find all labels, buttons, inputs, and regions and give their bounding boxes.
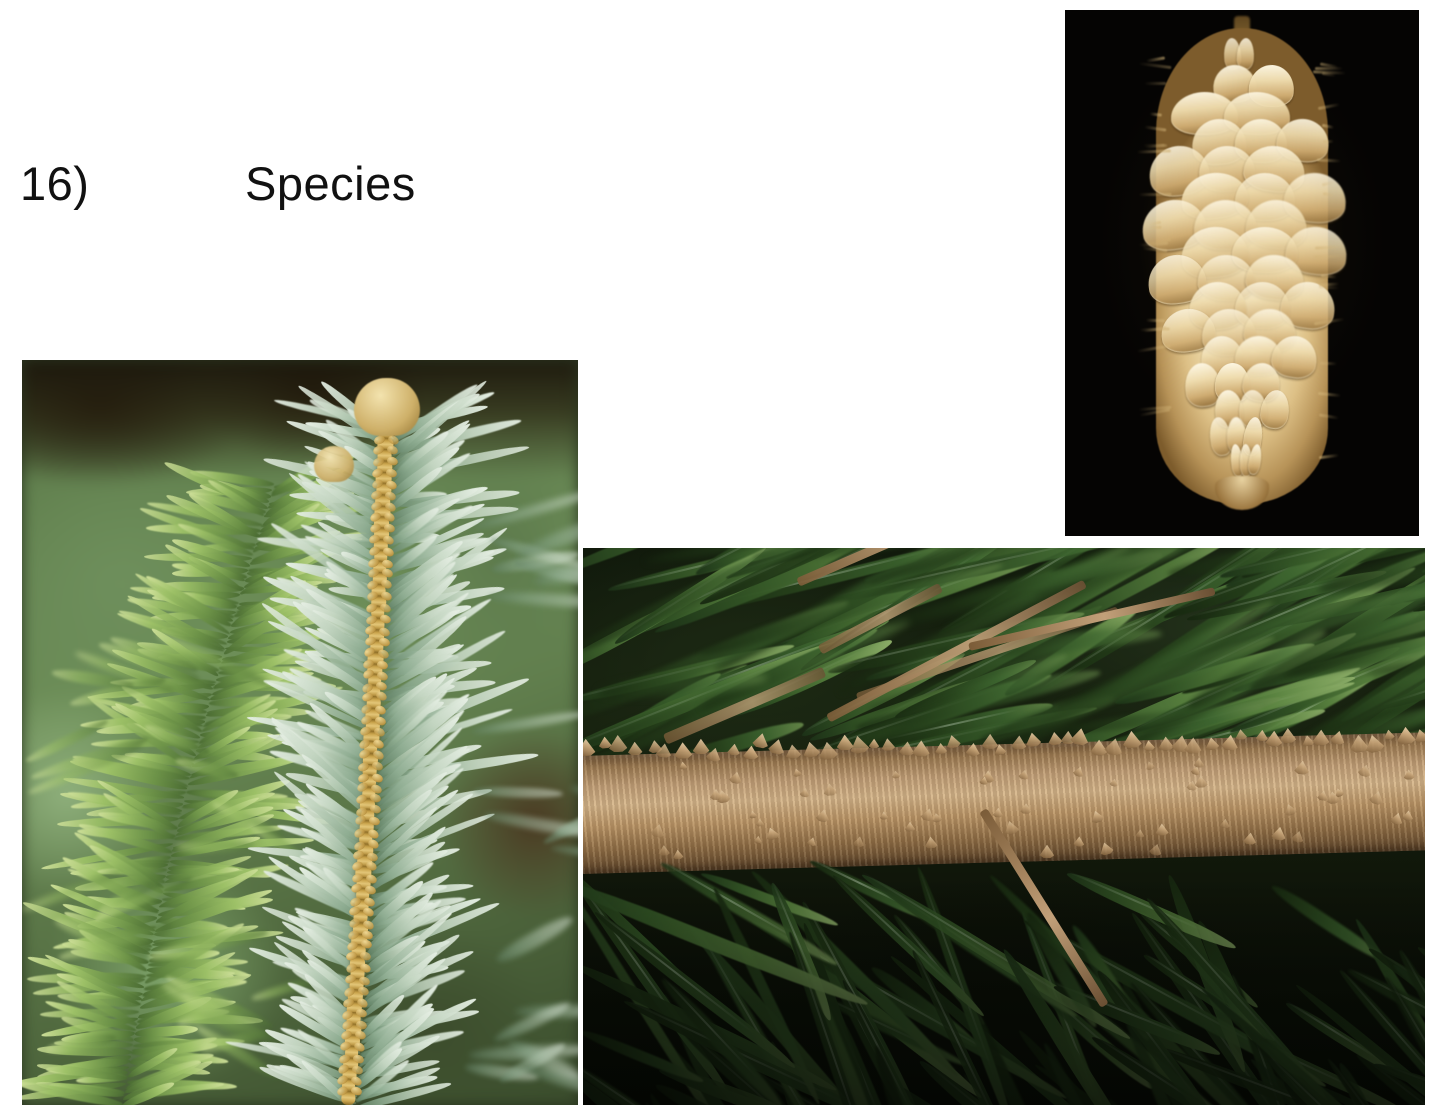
cone-scale-wisp xyxy=(1146,319,1165,322)
cone-scale-wisp xyxy=(1320,362,1337,366)
branch-photo[interactable] xyxy=(583,548,1425,1105)
question-number: 16) xyxy=(20,160,245,207)
cone-scale-wisp xyxy=(1315,67,1343,70)
cone-scale-wisp xyxy=(1149,225,1162,228)
lateral-bud xyxy=(314,446,354,482)
spruce-cone xyxy=(1156,28,1328,504)
cone-scale-wisp xyxy=(1323,140,1335,143)
shoot-photo[interactable] xyxy=(22,360,578,1105)
terminal-bud xyxy=(354,378,420,436)
slide-canvas: 16) Species xyxy=(0,0,1440,1120)
cone-scale-wisp xyxy=(1144,82,1166,85)
cone-photo[interactable] xyxy=(1065,10,1419,536)
page-title: 16) Species xyxy=(20,160,416,207)
question-label: Species xyxy=(245,160,416,207)
